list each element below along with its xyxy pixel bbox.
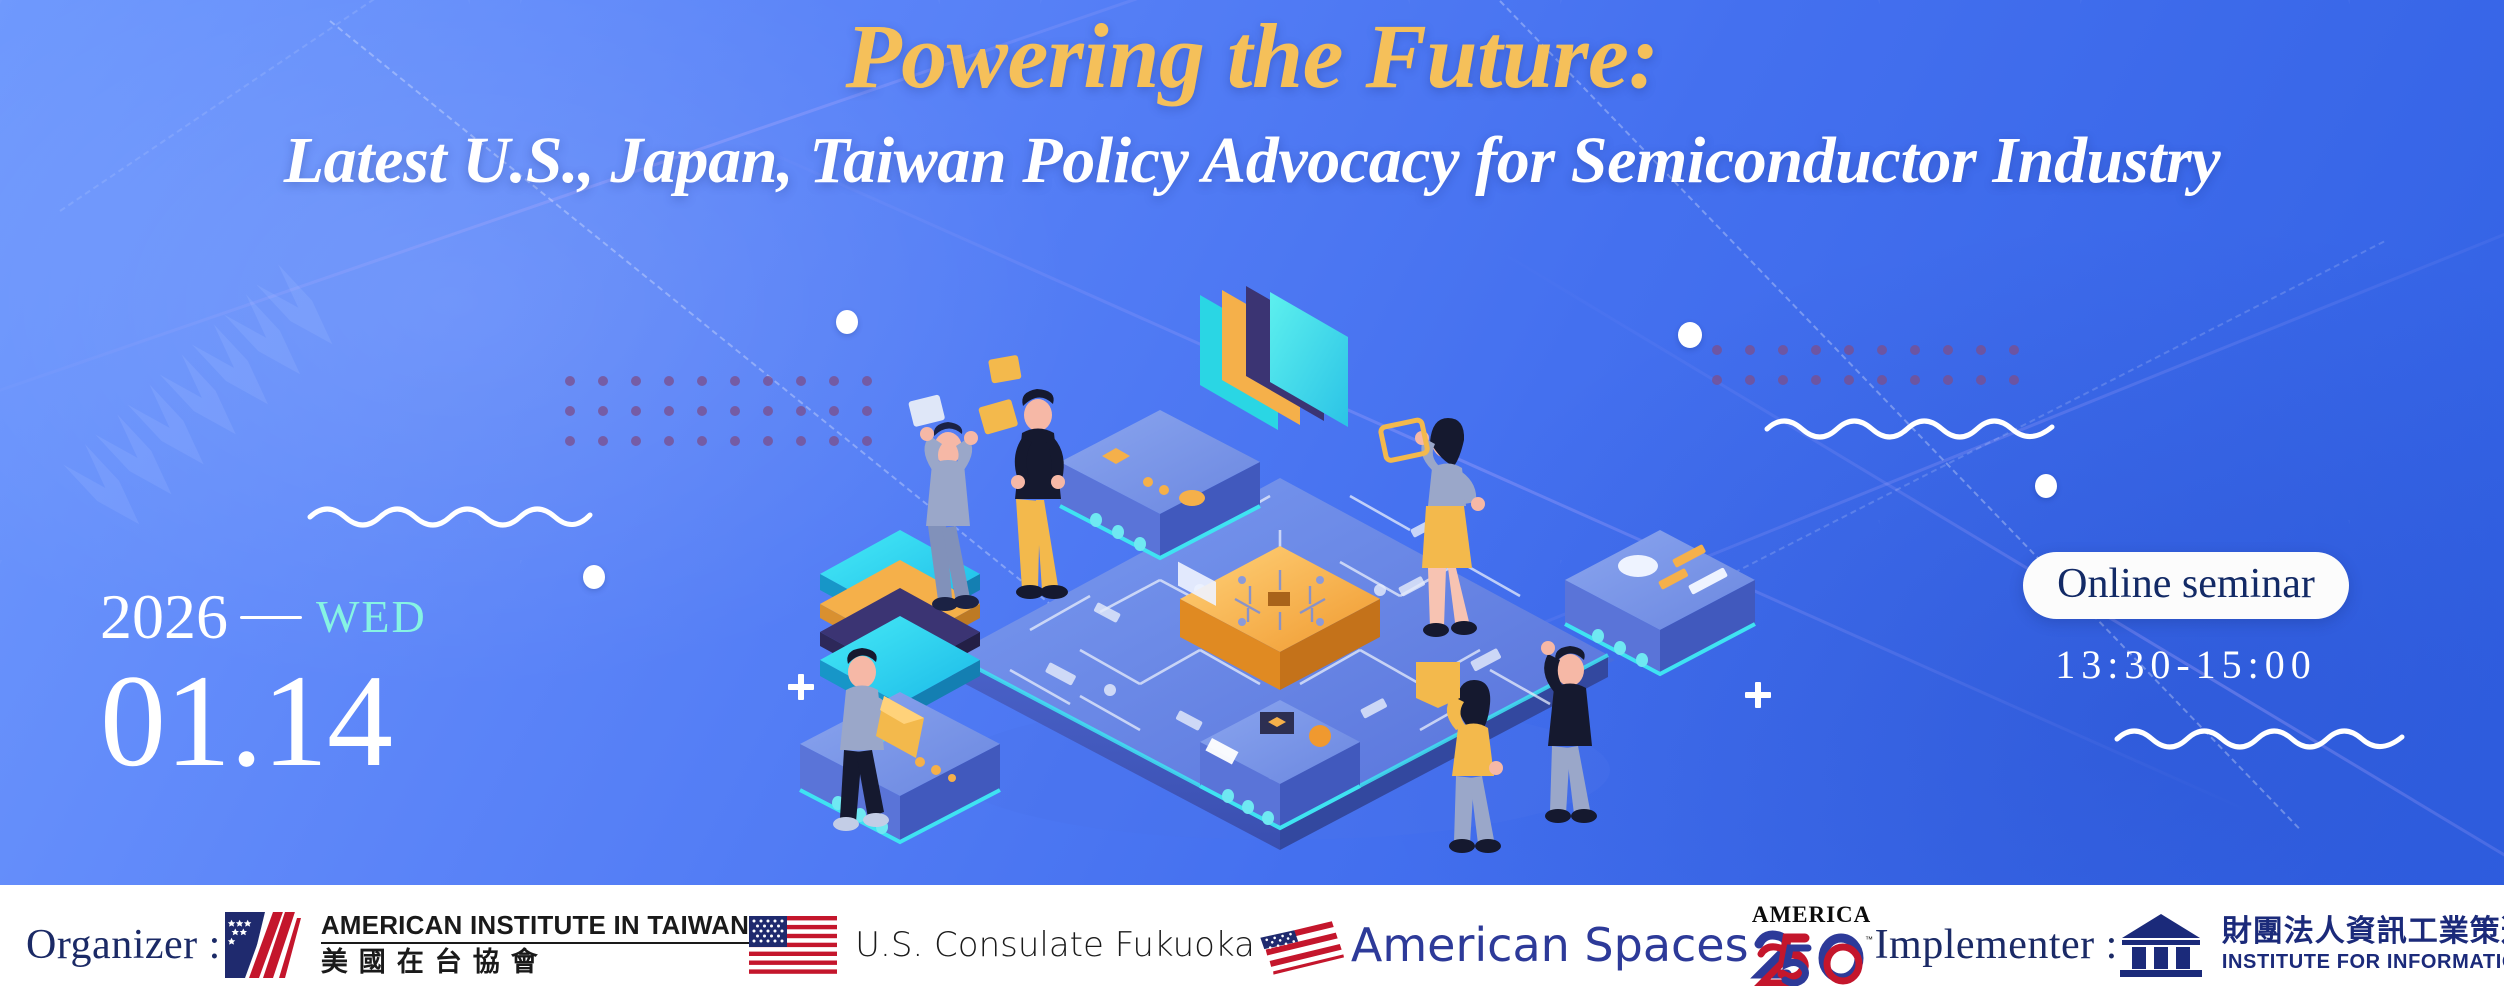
grid-dot [1910,345,1920,355]
event-time: 13:30-15:00 [1986,641,2386,688]
grid-dot [664,406,674,416]
event-date-block: 2026 WED 01.14 [100,585,427,787]
grid-dot [730,406,740,416]
america250-numerals-icon: ™ [1749,926,1875,986]
wave-decoration-right-top [1762,405,2072,445]
grid-dot [763,376,773,386]
ait-divider [321,942,749,944]
grid-dot [1844,345,1854,355]
isometric-semiconductor-illustration [780,230,1780,880]
footer-bar: Organizer : [0,885,2504,1004]
grid-dot [631,406,641,416]
logo-america-250: AMERICA ™ [1749,903,1875,986]
grid-dot [664,436,674,446]
grid-dot [1976,345,1986,355]
grid-dot [664,376,674,386]
wave-decoration-right-bottom [2112,715,2422,755]
white-dot-2 [583,565,605,589]
american-spaces-name: American Spaces [1351,918,1749,972]
date-year: 2026 [100,585,228,649]
grid-dot [2009,345,2019,355]
logo-iii: 財團法人資訊工業策進會 INSTITUTE FOR INFORMATION IN… [2118,910,2504,980]
ait-flag-icon [221,908,303,982]
logo-american-spaces: American Spaces [1255,909,1749,981]
page-title: Powering the Future: [0,10,2504,104]
svg-text:™: ™ [1865,935,1873,944]
grid-dot [1877,345,1887,355]
grid-dot [1811,345,1821,355]
iii-english-name: INSTITUTE FOR INFORMATION INDUSTRY [2222,951,2504,973]
person-figure [978,355,1068,599]
organizer-label: Organizer : [26,921,221,969]
us-flag-icon [749,916,837,974]
american-spaces-flag-icon [1255,909,1351,981]
us-consulate-name: U.S. Consulate Fukuoka [855,925,1255,965]
grid-dot [697,436,707,446]
logo-ait: AMERICAN INSTITUTE IN TAIWAN 美國在台協會 [221,908,749,982]
grid-dot [1844,375,1854,385]
grid-dot [697,376,707,386]
date-day-of-week: WED [316,594,427,640]
wave-decoration-left [305,495,605,535]
page-subtitle: Latest U.S., Japan, Taiwan Policy Advoca… [0,126,2504,195]
grid-dot [565,376,575,386]
iii-chinese-name: 財團法人資訊工業策進會 [2222,916,2504,948]
logo-us-consulate-fukuoka: U.S. Consulate Fukuoka [749,916,1255,974]
event-info-block: Online seminar 13:30-15:00 [1986,552,2386,688]
grid-dot [763,436,773,446]
grid-dot [631,376,641,386]
grid-dot [631,436,641,446]
date-divider [240,616,302,619]
grid-dot [730,436,740,446]
seminar-banner: Powering the Future: Latest U.S., Japan,… [0,0,2504,1004]
grid-dot [1976,375,1986,385]
grid-dot [697,406,707,416]
white-dot-4 [2035,474,2057,498]
grid-dot [1943,345,1953,355]
grid-dot [730,376,740,386]
grid-dot [598,406,608,416]
grid-dot [1943,375,1953,385]
grid-dot [1910,375,1920,385]
date-month-day: 01.14 [100,655,427,787]
iii-text: 財團法人資訊工業策進會 INSTITUTE FOR INFORMATION IN… [2222,916,2504,974]
ait-text: AMERICAN INSTITUTE IN TAIWAN 美國在台協會 [321,912,749,977]
grid-dot [1811,375,1821,385]
implementer-label: Implementer : [1875,921,2118,969]
institute-building-icon [2118,910,2204,980]
grid-dot [598,376,608,386]
grid-dot [565,406,575,416]
grid-dot [598,436,608,446]
chevron-icon [63,444,150,535]
chevron-arrows-decoration [53,264,344,544]
date-year-row: 2026 WED [100,585,427,649]
ait-english-name: AMERICAN INSTITUTE IN TAIWAN [321,912,749,938]
america250-wordmark: AMERICA [1752,903,1871,926]
grid-dot [565,436,575,446]
grid-dot [763,406,773,416]
ait-chinese-name: 美國在台協會 [321,949,749,977]
title-block: Powering the Future: Latest U.S., Japan,… [0,10,2504,195]
grid-dot [2009,375,2019,385]
grid-dot [1877,375,1887,385]
status-badge: Online seminar [2023,552,2349,619]
